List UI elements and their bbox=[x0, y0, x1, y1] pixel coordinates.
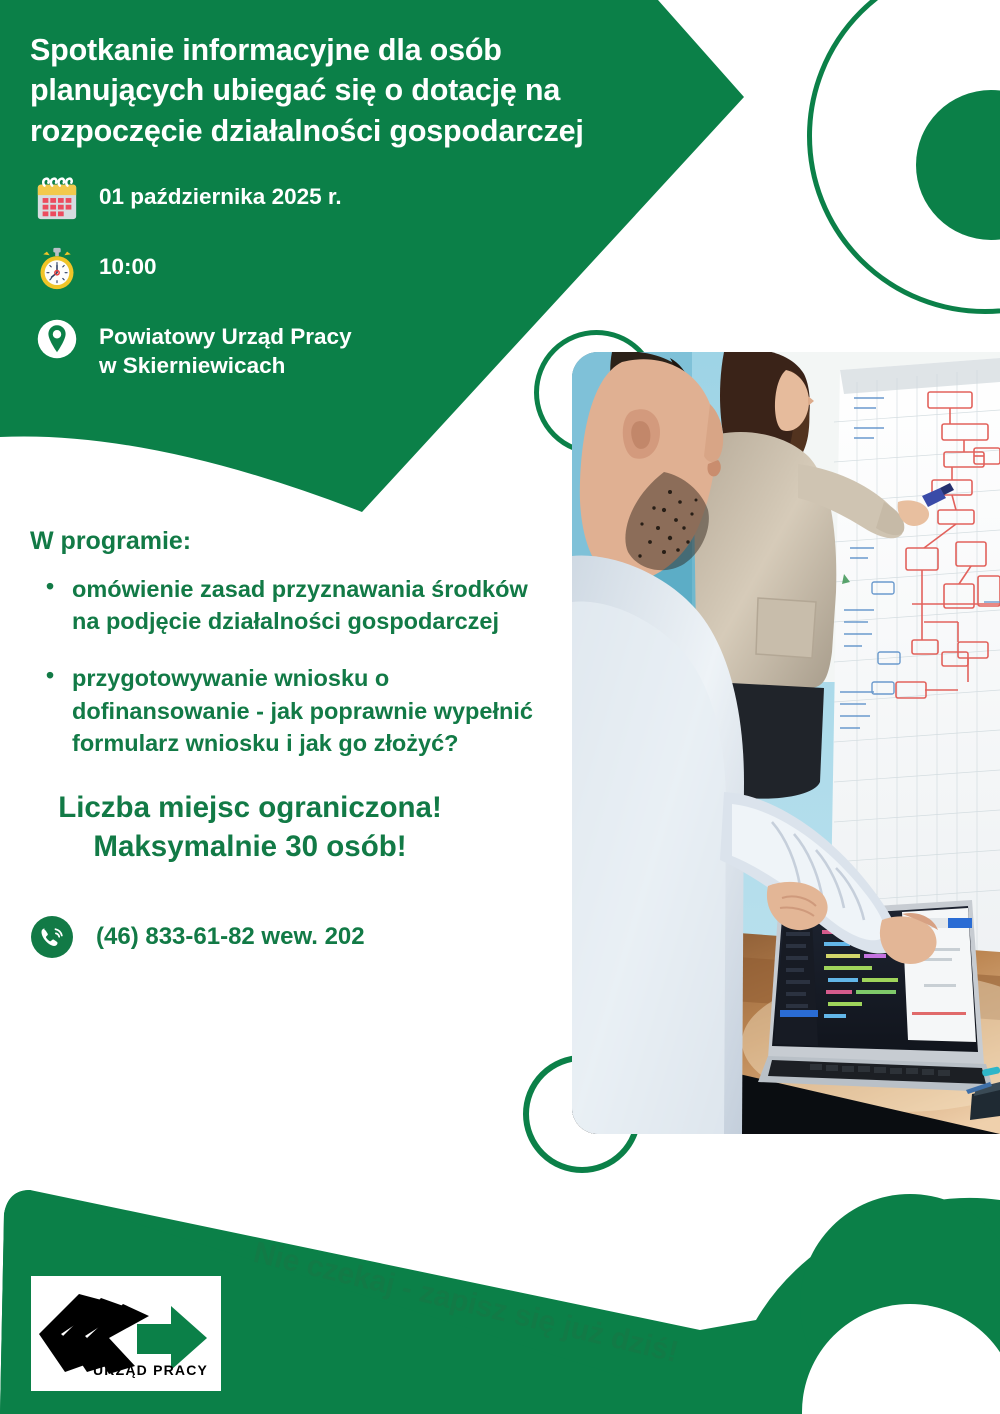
event-detail-time: 10:00 bbox=[0, 243, 700, 313]
capacity-highlight: Liczba miejsc ograniczona!Maksymalnie 30… bbox=[0, 788, 560, 866]
contact-row[interactable]: (46) 833-61-82 wew. 202 bbox=[0, 866, 560, 959]
header-content: Spotkanie informacyjne dla osób planując… bbox=[0, 0, 700, 399]
location-pin-icon bbox=[32, 313, 82, 365]
event-location-text: Powiatowy Urząd Pracyw Skierniewicach bbox=[99, 313, 352, 381]
logo-caption: URZĄD PRACY bbox=[93, 1362, 208, 1378]
capacity-line-1: Liczba miejsc ograniczona! bbox=[58, 791, 442, 824]
phone-number[interactable]: (46) 833-61-82 wew. 202 bbox=[96, 923, 365, 951]
list-item: przygotowywanie wniosku o dofinansowanie… bbox=[72, 662, 542, 759]
urzad-pracy-logo: URZĄD PRACY bbox=[31, 1276, 221, 1391]
stopwatch-icon bbox=[32, 243, 82, 295]
location-line-1: Powiatowy Urząd Pracy bbox=[99, 324, 352, 349]
program-heading: W programie: bbox=[0, 527, 560, 556]
event-date-text: 01 października 2025 r. bbox=[99, 173, 342, 212]
capacity-line-2: Maksymalnie 30 osób! bbox=[93, 830, 406, 863]
body-content: W programie: omówienie zasad przyznawani… bbox=[0, 527, 560, 959]
event-details-list: 01 października 2025 r. bbox=[0, 151, 700, 399]
phone-icon bbox=[30, 915, 74, 959]
program-list: omówienie zasad przyznawania środków na … bbox=[0, 573, 560, 759]
calendar-icon bbox=[32, 173, 82, 225]
event-detail-location: Powiatowy Urząd Pracyw Skierniewicach bbox=[0, 313, 700, 399]
page-title: Spotkanie informacyjne dla osób planując… bbox=[0, 0, 700, 151]
meeting-photo bbox=[572, 352, 1000, 1134]
event-detail-date: 01 października 2025 r. bbox=[0, 173, 700, 243]
list-item: omówienie zasad przyznawania środków na … bbox=[72, 573, 542, 637]
poster-canvas: Spotkanie informacyjne dla osób planując… bbox=[0, 0, 1000, 1414]
event-time-text: 10:00 bbox=[99, 243, 157, 282]
location-line-2: w Skierniewicach bbox=[99, 353, 285, 378]
